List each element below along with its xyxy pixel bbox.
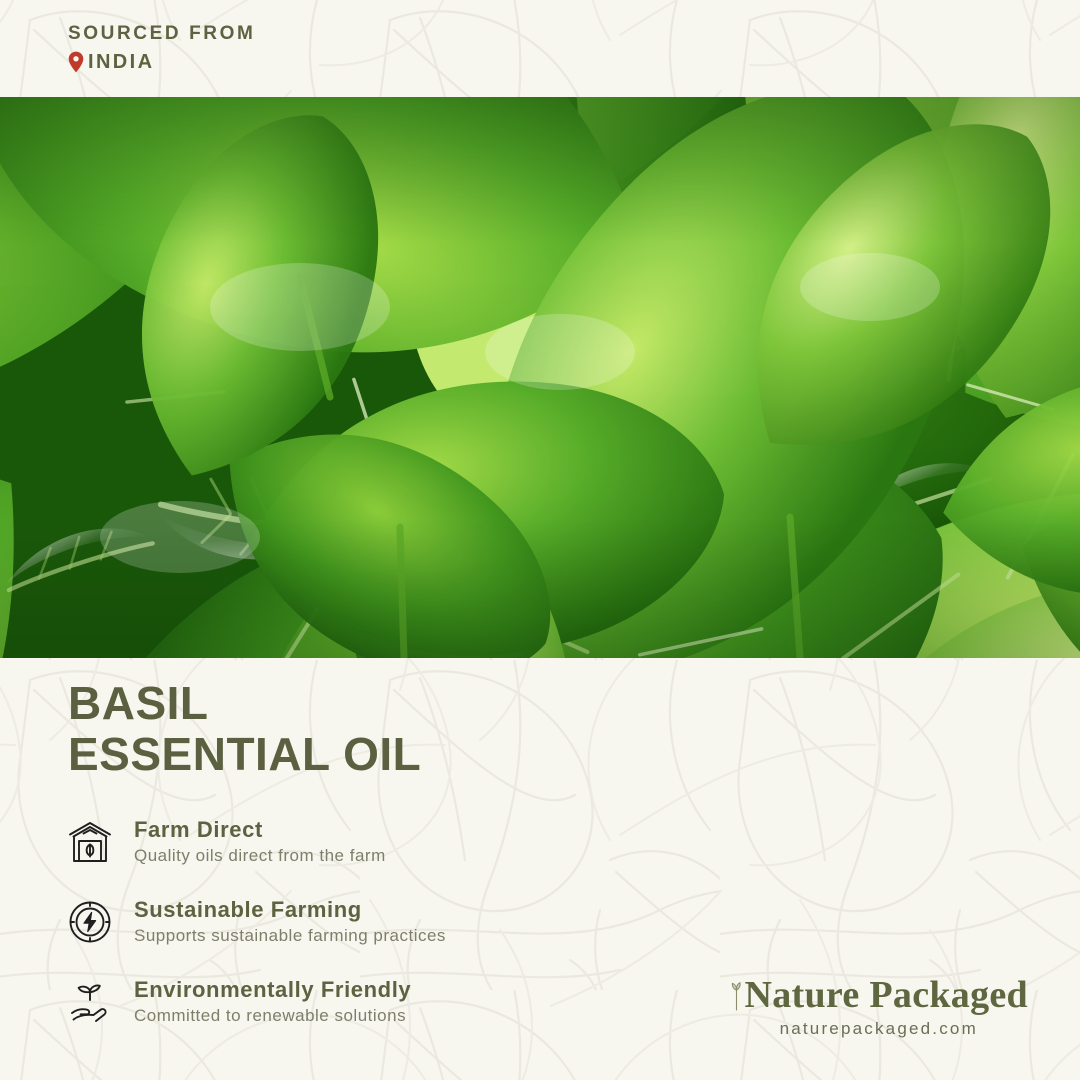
feature-title: Sustainable Farming xyxy=(134,897,446,923)
sprout-leaf-icon xyxy=(730,977,743,1011)
product-card: SOURCED FROM INDIA xyxy=(0,0,1080,1080)
brand-logo: Nature Packaged naturepackaged.com xyxy=(730,975,1029,1040)
sustainable-energy-bolt-icon xyxy=(62,894,118,950)
feature-item: Environmentally Friendly Committed to re… xyxy=(62,972,702,1052)
hand-holding-seedling-icon xyxy=(62,974,118,1030)
hero-basil-photo xyxy=(0,97,1080,658)
origin-country-name: INDIA xyxy=(88,51,154,73)
location-pin-icon xyxy=(68,51,84,73)
product-title-line-2: ESSENTIAL OIL xyxy=(68,731,421,777)
feature-title: Farm Direct xyxy=(134,817,386,843)
feature-list: Farm Direct Quality oils direct from the… xyxy=(62,812,702,1052)
feature-subtitle: Quality oils direct from the farm xyxy=(134,845,386,867)
brand-url: naturepackaged.com xyxy=(730,1018,1029,1040)
sourced-from-label: SOURCED FROM xyxy=(68,22,255,46)
origin-country-row: INDIA xyxy=(68,51,255,73)
feature-subtitle: Committed to renewable solutions xyxy=(134,1005,411,1027)
product-title-line-1: BASIL xyxy=(68,680,421,726)
header-band: SOURCED FROM INDIA xyxy=(0,0,1080,97)
farm-barn-leaf-icon xyxy=(62,814,118,870)
brand-name: Nature Packaged xyxy=(745,975,1029,1015)
feature-item: Sustainable Farming Supports sustainable… xyxy=(62,892,702,972)
feature-subtitle: Supports sustainable farming practices xyxy=(134,925,446,947)
feature-item: Farm Direct Quality oils direct from the… xyxy=(62,812,702,892)
feature-title: Environmentally Friendly xyxy=(134,977,411,1003)
product-title: BASIL ESSENTIAL OIL xyxy=(68,680,421,777)
